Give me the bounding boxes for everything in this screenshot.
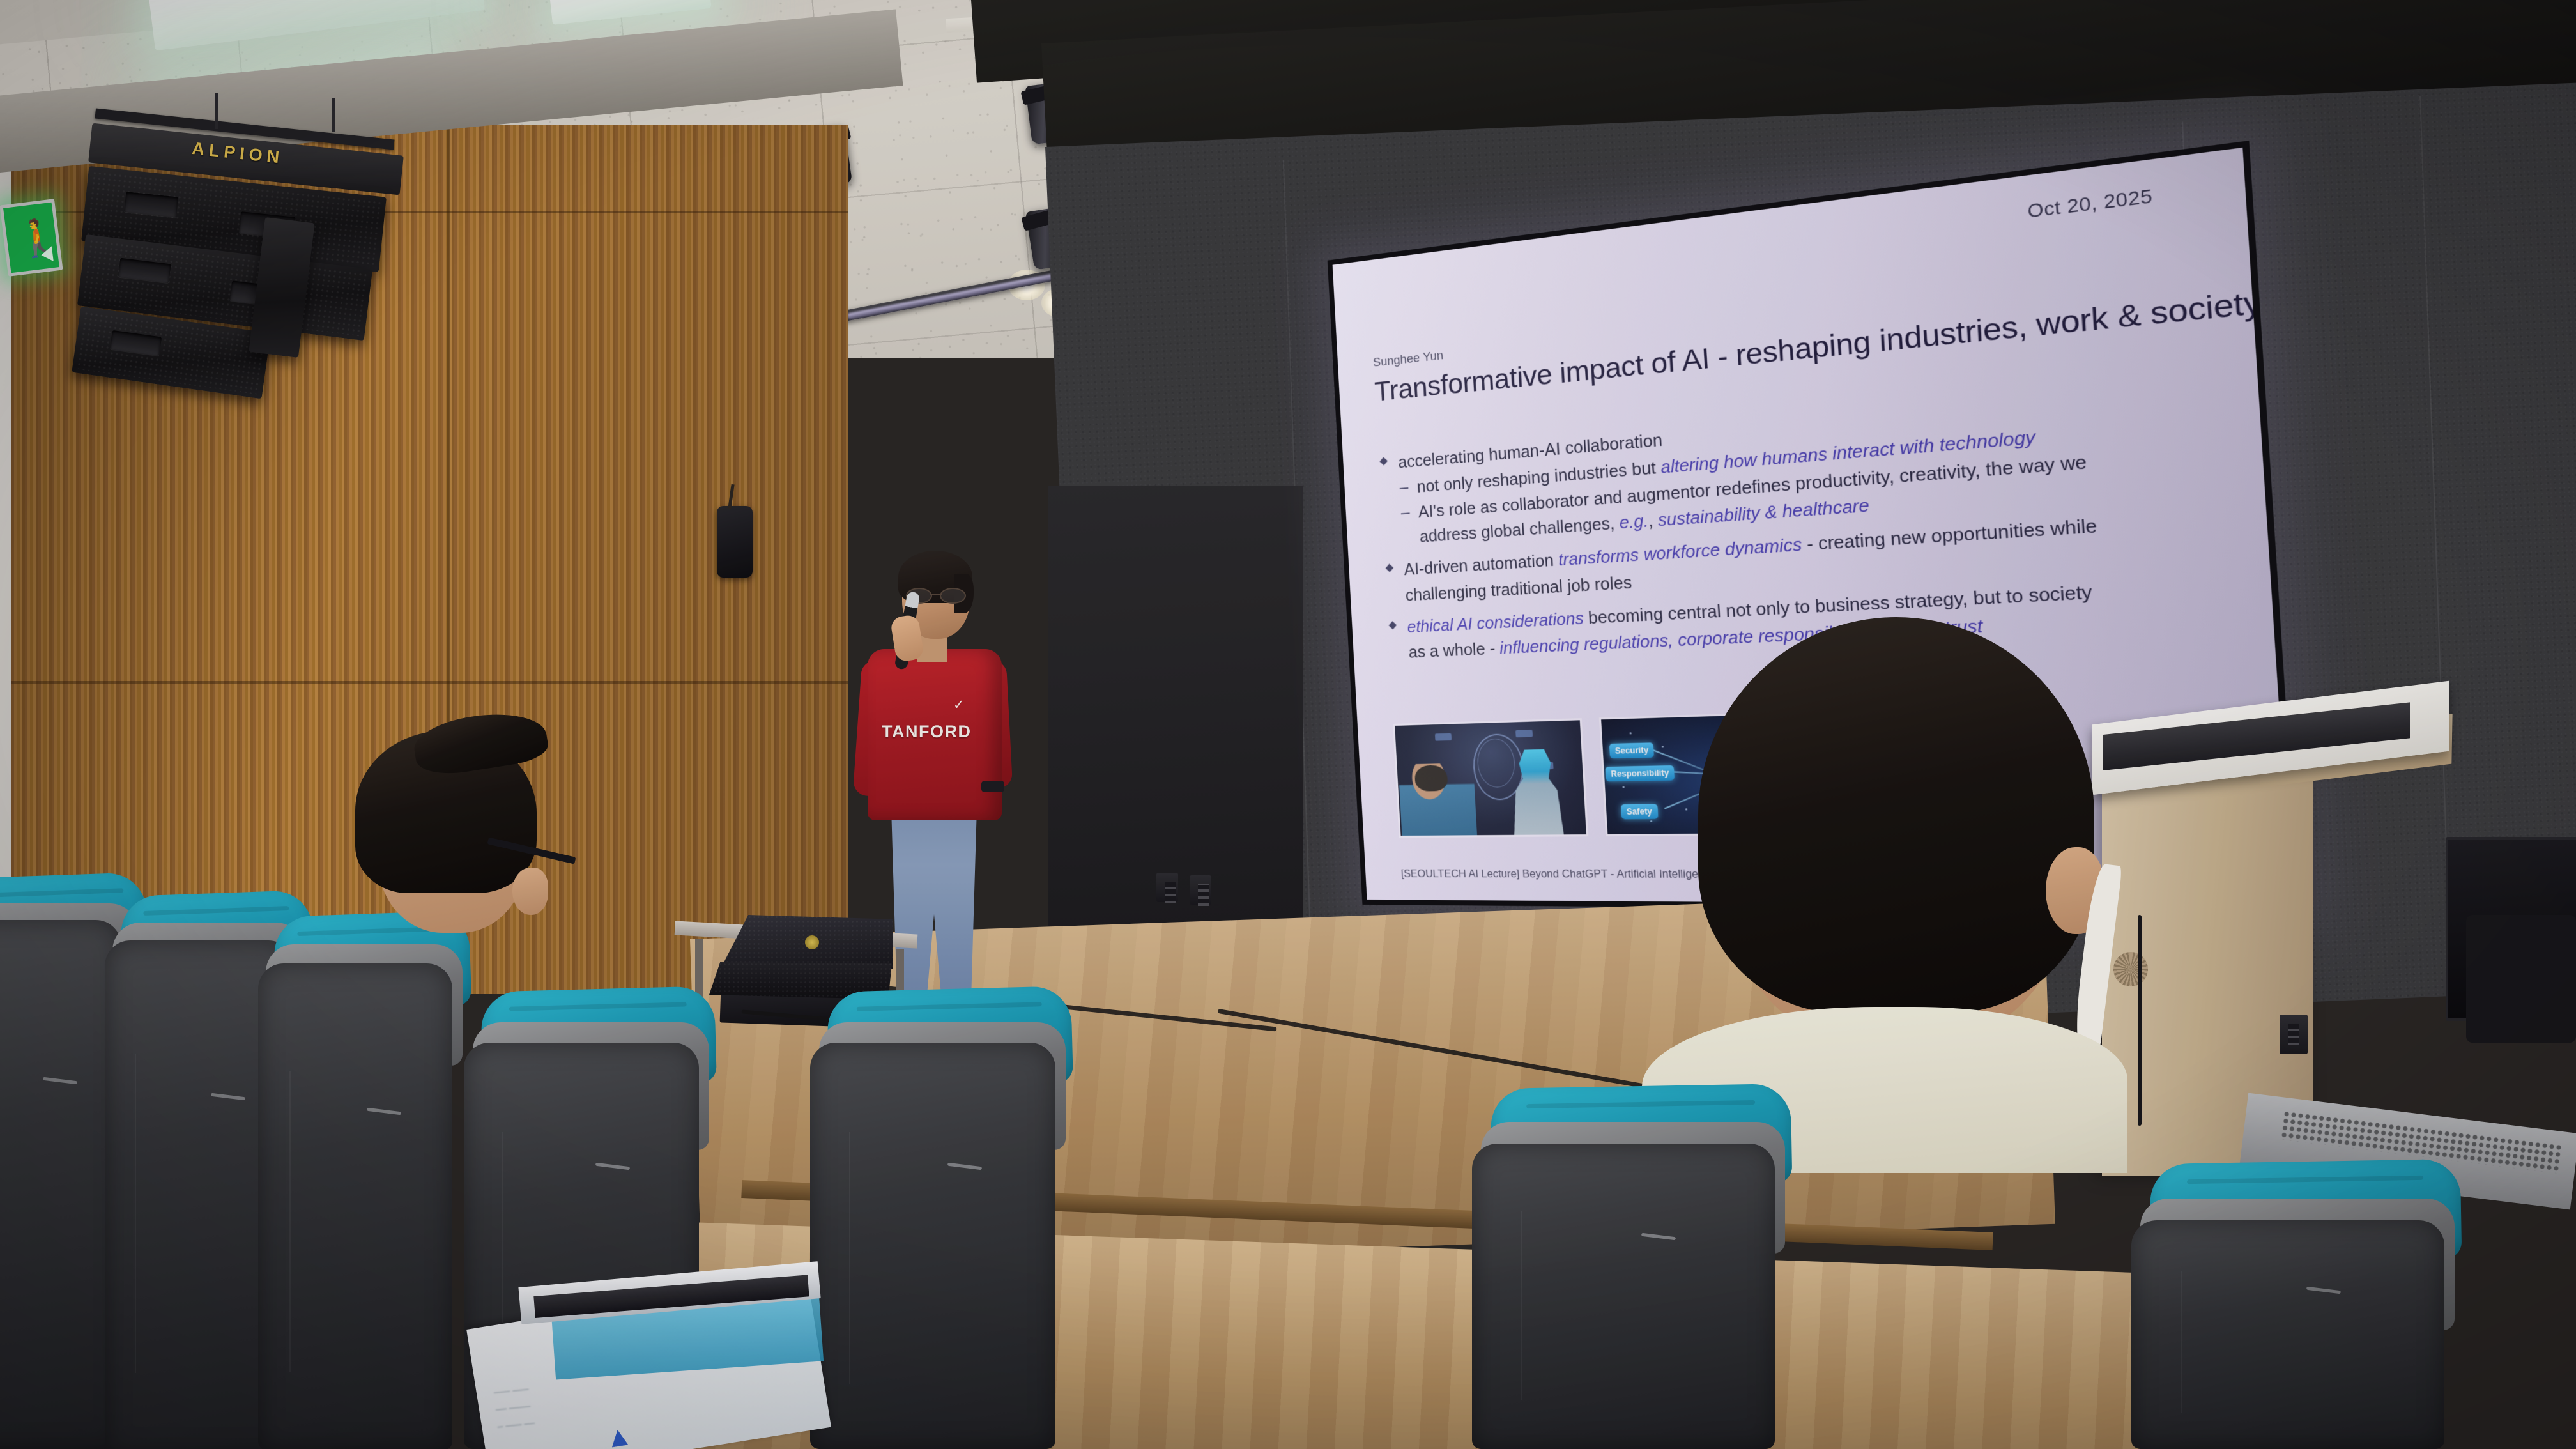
seat-backrest xyxy=(2131,1220,2444,1449)
speaker-rigging-rod xyxy=(215,93,218,129)
exit-sign-box: 🚶 xyxy=(0,199,63,277)
presenter-wristwatch xyxy=(981,781,1004,792)
seat-backrest xyxy=(1472,1144,1775,1449)
auditorium-seat[interactable] xyxy=(1450,1086,1808,1449)
seat-backrest xyxy=(810,1043,1055,1449)
audience-front-left xyxy=(319,722,588,990)
ethics-chip-security: Security xyxy=(1609,742,1655,758)
exit-arrow-icon xyxy=(40,246,54,263)
monitor-brand-badge xyxy=(805,935,819,949)
human-robot-collaboration-image xyxy=(1393,718,1588,838)
wall-power-outlet[interactable] xyxy=(2280,1015,2308,1054)
bullet-emphasis: e.g. xyxy=(1619,512,1649,533)
nike-swoosh-icon: ✓ xyxy=(953,699,989,712)
line-array-speaker-cluster: ALPION xyxy=(89,139,447,433)
audience-hair xyxy=(1698,617,2094,1013)
auditorium-seat[interactable] xyxy=(2108,1161,2479,1449)
lecture-hall-scene: 🚶 ALPION Oct 20, 2025 xyxy=(0,0,2576,1449)
wood-wall-seam xyxy=(11,681,848,684)
slide-author: Sunghee Yun xyxy=(1373,349,1444,371)
speaker-rigging-rod xyxy=(332,98,335,132)
wall-mounted-device xyxy=(717,506,753,578)
slide-date: Oct 20, 2025 xyxy=(2027,185,2154,223)
right-chair-silhouette xyxy=(2466,915,2576,1043)
wall-power-outlet[interactable] xyxy=(1190,875,1211,905)
star-dot xyxy=(1623,786,1625,788)
seat-backrest xyxy=(258,963,452,1449)
network-node xyxy=(1515,730,1533,737)
human-figure xyxy=(1398,763,1477,836)
audience-front-right xyxy=(1648,601,2159,1163)
auditorium-seat[interactable] xyxy=(258,914,475,1449)
seat-backrest xyxy=(0,920,121,1449)
presenter-shirt-text: TANFORD xyxy=(882,722,989,742)
bullet-emphasis: ethical AI considerations xyxy=(1407,609,1584,636)
wall-power-outlet[interactable] xyxy=(1156,873,1178,902)
emergency-exit-sign: 🚶 xyxy=(0,199,63,277)
audience-ear xyxy=(512,868,548,915)
network-node xyxy=(1435,733,1452,740)
